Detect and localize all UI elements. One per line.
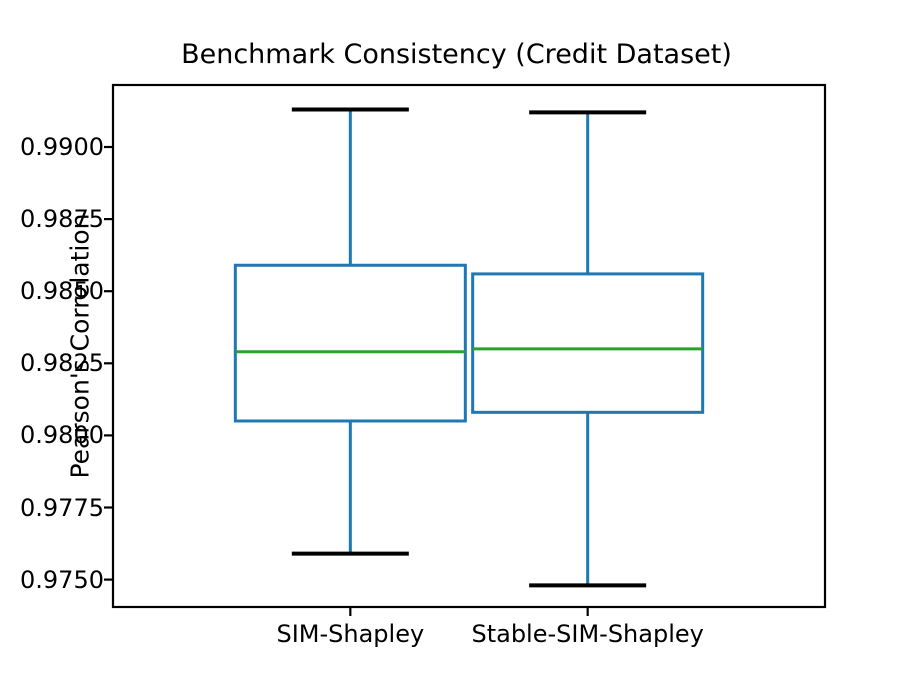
figure: Benchmark Consistency (Credit Dataset) P… [0, 0, 913, 685]
x-tick-label: Stable-SIM-Shapley [471, 621, 703, 647]
x-tick-label: SIM-Shapley [276, 621, 424, 647]
plot-area [0, 0, 913, 685]
axes-frame [113, 85, 825, 607]
